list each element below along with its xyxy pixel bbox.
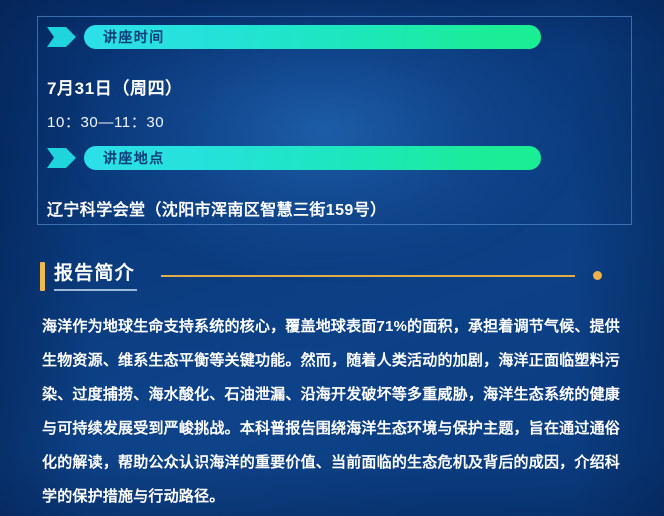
section-accent-bar <box>40 262 45 291</box>
pennant-arrow-icon <box>47 148 76 168</box>
section-divider-rule <box>161 275 575 277</box>
lecture-place-row: 讲座地点 <box>47 145 541 171</box>
lecture-date-text: 7月31日（周四） <box>47 74 183 99</box>
lecture-time-pill-label: 讲座时间 <box>103 30 165 44</box>
report-intro-paragraph: 海洋作为地球生命支持系统的核心，覆盖地球表面71%的面积，承担着调节气候、提供生… <box>42 310 620 514</box>
section-end-dot-icon <box>593 271 602 280</box>
lecture-place-pill: 讲座地点 <box>84 146 541 170</box>
lecture-time-row: 讲座时间 <box>47 24 541 50</box>
lecture-place-pill-label: 讲座地点 <box>103 151 165 165</box>
lecture-info-card: 讲座时间 7月31日（周四） 10：30—11：30 讲座地点 辽宁科学会堂（沈… <box>37 16 632 225</box>
lecture-time-pill: 讲座时间 <box>84 25 541 49</box>
section-title-underline <box>54 289 137 291</box>
poster-canvas: 讲座时间 7月31日（周四） 10：30—11：30 讲座地点 辽宁科学会堂（沈… <box>0 0 664 516</box>
lecture-time-text: 10：30—11：30 <box>47 111 164 132</box>
pennant-arrow-icon <box>47 27 76 47</box>
section-header: 报告简介 <box>40 261 624 293</box>
section-title: 报告简介 <box>54 263 135 286</box>
lecture-venue-text: 辽宁科学会堂（沈阳市浑南区智慧三街159号） <box>47 196 387 220</box>
